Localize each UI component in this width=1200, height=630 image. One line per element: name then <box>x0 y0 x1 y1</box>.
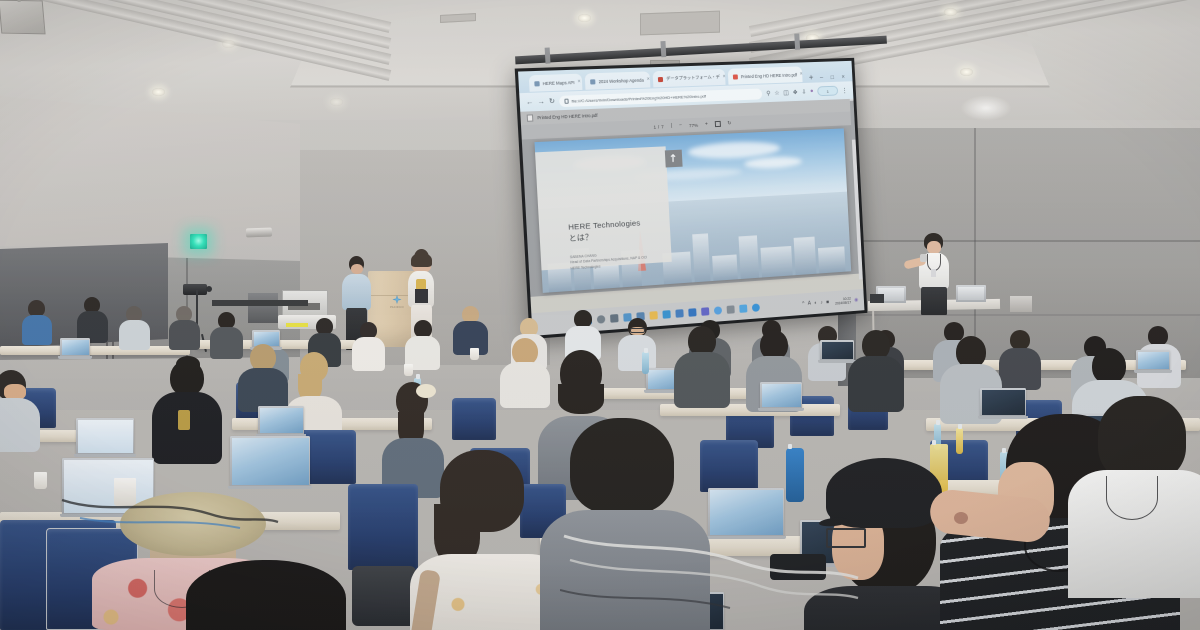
table-far-left <box>0 346 190 355</box>
microphone <box>920 254 927 262</box>
slack-icon[interactable] <box>739 304 747 312</box>
podium-logo-icon <box>393 295 402 304</box>
trousers <box>921 287 947 315</box>
bar-clip <box>545 47 551 63</box>
tab-favicon <box>733 74 738 79</box>
back-icon[interactable]: ← <box>526 98 534 105</box>
settings-icon[interactable] <box>727 305 735 314</box>
here-logo-glyph: ↗ <box>667 151 681 165</box>
pdf-rotate-icon[interactable]: ↻ <box>727 120 731 126</box>
browser-tab-2[interactable]: データプラットフォーム・デ × <box>653 69 726 87</box>
projection-screen: HERE Maps API × 2024 Workshop Agenda × デ… <box>515 58 868 339</box>
pdf-file-icon <box>527 114 534 121</box>
building <box>739 235 759 278</box>
stage-av-box <box>1010 296 1032 312</box>
hair <box>186 560 346 630</box>
building <box>692 234 710 283</box>
backpack <box>352 566 416 626</box>
tab-label: 2024 Workshop Agenda <box>598 77 643 84</box>
conference-room-photo: HERE Maps API × 2024 Workshop Agenda × デ… <box>0 0 1200 630</box>
slide-title: HERE Technologies とは？ <box>568 217 649 244</box>
presentation-slide: HERE Technologies とは？ SABENA CHANG Head … <box>534 128 851 292</box>
edge-icon[interactable] <box>663 310 671 319</box>
recessed-downlight <box>960 68 973 76</box>
profile-pill-label: 1 <box>827 88 829 93</box>
air-vent <box>640 11 720 36</box>
face <box>351 264 363 274</box>
attendee-white-shirt-right <box>1088 396 1200 596</box>
paper-cup <box>470 348 479 360</box>
black-cap <box>826 458 942 528</box>
tab-close-icon[interactable]: × <box>723 74 726 80</box>
presenter-laptop-right <box>956 285 986 302</box>
show-hidden-icon[interactable]: ^ <box>802 301 805 307</box>
paper-cup <box>404 364 413 376</box>
volume-icon[interactable]: ♪ <box>820 300 823 306</box>
pdf-divider: | <box>671 123 673 129</box>
profile-icon[interactable]: ● <box>810 89 814 95</box>
equipment-rack-dark <box>248 293 278 323</box>
recessed-downlight <box>944 8 957 16</box>
address-bar-value: file:///C:/Users/Irvin/Downloads/Printed… <box>571 93 706 103</box>
projected-display: HERE Maps API × 2024 Workshop Agenda × デ… <box>518 61 864 336</box>
cloud <box>744 156 802 170</box>
pdf-page-indicator: 1 / 7 <box>653 124 664 129</box>
clock-date: 2024/08/17 <box>835 301 851 306</box>
cables <box>560 520 860 620</box>
ime-icon[interactable]: A <box>808 301 811 307</box>
mail-icon[interactable] <box>688 308 696 317</box>
browser-tab-3-active[interactable]: Printed Eng HD HERE Intro.pdf × <box>728 66 803 84</box>
held-tablet <box>415 289 428 303</box>
partition-seam <box>846 240 1200 242</box>
chair <box>452 398 496 440</box>
profile-pill[interactable]: 1 <box>817 86 838 97</box>
browser-tab-1[interactable]: 2024 Workshop Agenda × <box>585 71 651 89</box>
stage-equipment-box <box>870 294 884 303</box>
hair <box>570 418 674 514</box>
glasses <box>630 328 645 333</box>
downloads-icon[interactable]: ⇩ <box>801 88 806 95</box>
attendee-laptop <box>60 338 90 356</box>
recessed-downlight <box>152 88 165 96</box>
bar-clip <box>794 33 800 49</box>
store-icon[interactable] <box>676 309 684 318</box>
shirt-motif <box>178 410 190 430</box>
arm-tattoo <box>954 512 968 524</box>
attendee-laptop <box>820 340 854 360</box>
pdf-file-name: Printed Eng HD HERE Intro.pdf <box>537 113 598 121</box>
presenter-stage-right <box>906 233 954 315</box>
wall-mounted-device <box>246 228 272 238</box>
explorer-icon[interactable] <box>650 311 658 320</box>
maximize-button[interactable]: □ <box>831 75 835 81</box>
water-bottle <box>642 352 649 374</box>
task-view-icon[interactable] <box>610 314 619 323</box>
chair <box>348 484 418 570</box>
torso-shirt <box>342 274 371 310</box>
wall-light-reflection <box>960 95 1012 121</box>
taskbar-system-tray: ^ A ◐ ♪ ■ 10:22 2024/08/17 ◉ <box>802 296 859 309</box>
teams-icon[interactable] <box>701 307 709 316</box>
notification-icon[interactable]: ◉ <box>854 297 858 303</box>
window-controls: – □ × <box>820 75 849 82</box>
badge <box>931 269 936 277</box>
tab-favicon <box>534 81 539 86</box>
minimize-button[interactable]: – <box>820 75 823 81</box>
chrome-icon[interactable] <box>714 306 722 315</box>
bar-clip <box>660 41 666 57</box>
building <box>712 255 738 281</box>
tab-favicon <box>658 76 663 81</box>
extensions-icon[interactable]: ❖ <box>792 89 797 96</box>
video-camera <box>183 284 207 295</box>
attendee-laptop <box>760 382 802 408</box>
recessed-downlight <box>330 98 343 106</box>
attendee-front-center <box>186 560 346 630</box>
lanyard <box>1106 476 1158 520</box>
recessed-downlight <box>222 40 235 48</box>
slide-text-card: HERE Technologies とは？ SABENA CHANG Head … <box>535 147 672 271</box>
tab-label: Printed Eng HD HERE Intro.pdf <box>741 72 797 79</box>
search-icon[interactable] <box>597 315 606 324</box>
tab-close-icon[interactable]: × <box>577 79 580 85</box>
pdf-zoom-out-button[interactable]: − <box>679 123 682 129</box>
tab-favicon <box>590 79 595 84</box>
bookmark-star-icon[interactable]: ☆ <box>774 89 780 96</box>
reload-icon[interactable]: ↻ <box>549 97 556 105</box>
here-logo: ↗ <box>664 149 682 167</box>
exit-sign <box>190 234 207 249</box>
paper-cup <box>34 472 47 489</box>
building <box>818 246 846 273</box>
browser-tab-0[interactable]: HERE Maps API × <box>529 74 583 92</box>
sidebar-icon[interactable]: ◫ <box>783 89 789 96</box>
pdf-zoom-in-button[interactable]: + <box>705 121 708 127</box>
taskbar-clock[interactable]: 10:22 2024/08/17 <box>835 296 851 305</box>
hair-bun <box>176 356 200 372</box>
attendee-laptop <box>76 418 134 454</box>
file-icon <box>564 98 568 103</box>
hair-ribbon <box>416 384 436 398</box>
pdf-canvas: HERE Technologies とは？ SABENA CHANG Head … <box>522 125 863 297</box>
forward-icon[interactable]: → <box>537 98 545 105</box>
tab-label: データプラットフォーム・デ <box>666 74 720 82</box>
pdf-scrollbar-thumb[interactable] <box>850 101 856 140</box>
partition-seam <box>846 314 1200 316</box>
close-window-button[interactable]: × <box>841 75 845 81</box>
building <box>761 246 793 277</box>
tab-close-icon[interactable]: × <box>647 76 650 82</box>
battery-icon[interactable]: ■ <box>826 299 829 305</box>
network-icon[interactable]: ◐ <box>814 300 817 306</box>
new-tab-button[interactable]: + <box>805 73 817 82</box>
recessed-downlight <box>578 14 591 22</box>
attendee-laptop <box>258 406 304 434</box>
zoom-app-icon[interactable] <box>752 303 760 311</box>
pdf-fit-page-icon[interactable] <box>715 121 721 127</box>
zoom-icon[interactable]: ⚲ <box>766 90 771 97</box>
tab-label: HERE Maps API <box>543 79 575 85</box>
tab-close-icon[interactable]: × <box>800 71 803 77</box>
back-counter <box>212 300 308 306</box>
attendee-laptop <box>1136 350 1170 370</box>
pdf-zoom-level: 77% <box>689 122 698 127</box>
podium-logo-label: PACIFICO <box>390 306 404 309</box>
hair <box>411 253 432 267</box>
building <box>793 237 816 275</box>
ceiling-speaker <box>0 0 46 34</box>
cables-left <box>60 470 280 540</box>
kebab-menu-icon[interactable]: ⋮ <box>842 87 848 94</box>
